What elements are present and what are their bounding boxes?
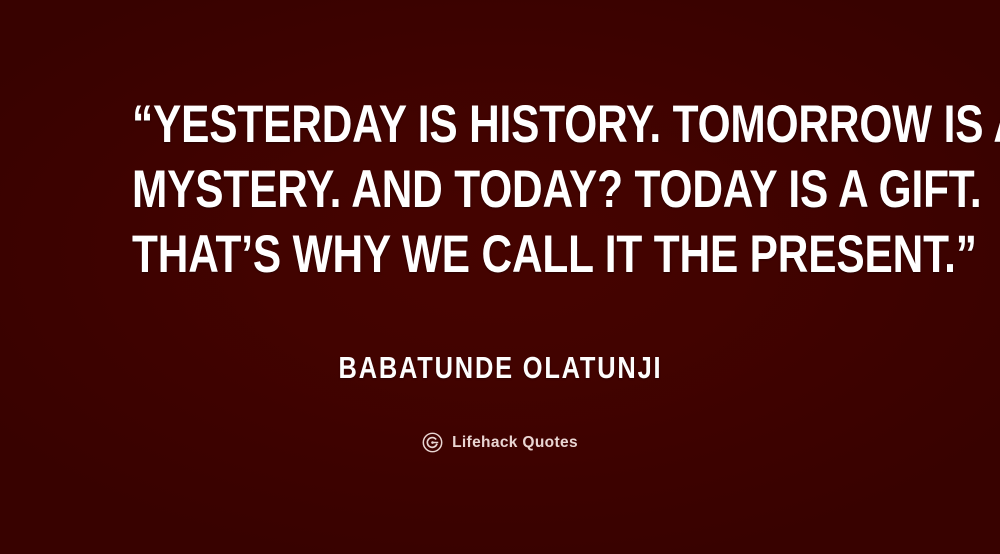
quote-text-block: “YESTERDAY IS HISTORY. TOMORROW IS A MYS… (0, 92, 1000, 287)
author-name: BABATUNDE OLATUNJI (338, 352, 662, 383)
lifehack-circle-logo-icon (422, 432, 443, 453)
quote-line-2: MYSTERY. AND TODAY? TODAY IS A GIFT. (132, 157, 868, 222)
quote-card: “YESTERDAY IS HISTORY. TOMORROW IS A MYS… (0, 0, 1000, 554)
brand-name: Lifehack Quotes (452, 432, 578, 453)
branding-footer: Lifehack Quotes (0, 432, 1000, 453)
quote-line-3: THAT’S WHY WE CALL IT THE PRESENT.” (132, 222, 868, 287)
quote-line-1: “YESTERDAY IS HISTORY. TOMORROW IS A (132, 92, 868, 157)
author-attribution: BABATUNDE OLATUNJI (0, 352, 1000, 383)
